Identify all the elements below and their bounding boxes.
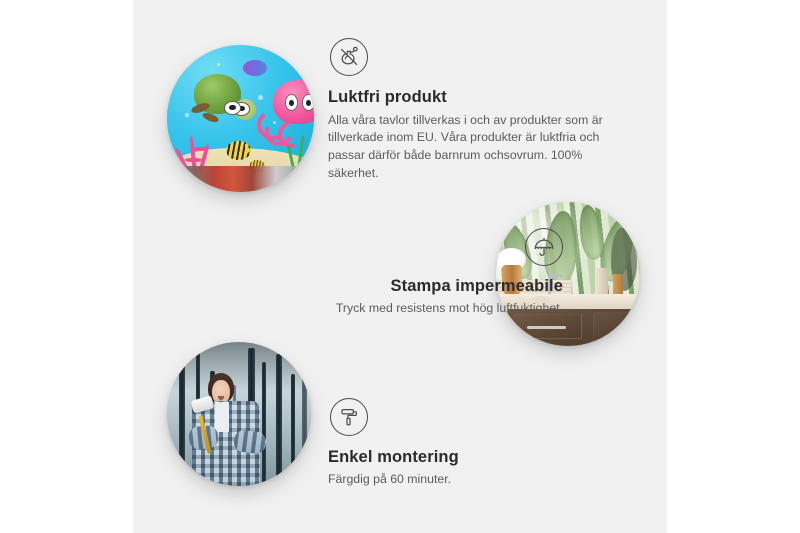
room-strip	[167, 166, 314, 192]
feature-title: Stampa impermeabile	[193, 276, 563, 297]
letterbox-right	[667, 0, 800, 533]
bubble-icon	[217, 63, 220, 66]
paint-roller-icon	[330, 398, 368, 436]
octopus-icon	[261, 80, 314, 151]
tree-icon	[179, 359, 185, 486]
tree-icon	[302, 365, 307, 486]
letterbox-left	[0, 0, 133, 533]
feature-image-underwater-cartoon-mural	[167, 45, 314, 192]
tree-icon	[276, 354, 282, 486]
bubble-icon	[185, 113, 189, 117]
infographic-canvas: Luktfri produkt Alla våra tavlor tillver…	[133, 0, 667, 533]
sea-turtle-icon	[191, 74, 256, 127]
feature-title: Luktfri produkt	[328, 87, 633, 108]
woman-figure	[187, 371, 268, 486]
feature-waterproof-print: Stampa impermeabile Tryck med resistens …	[193, 228, 563, 317]
bottle-icon	[595, 268, 608, 297]
no-fragrance-spray-icon	[330, 38, 368, 76]
feature-description: Alla våra tavlor tillverkas i och av pro…	[328, 112, 626, 183]
tree-icon	[291, 374, 295, 486]
umbrella-icon	[525, 228, 563, 266]
feature-odour-free: Luktfri produkt Alla våra tavlor tillver…	[328, 38, 633, 183]
yellow-fish-icon	[226, 141, 251, 160]
feature-description: Tryck med resistens mot hög luftfuktighe…	[193, 300, 563, 318]
feature-description: Färgdig på 60 minuter.	[328, 471, 608, 489]
feature-easy-mounting: Enkel montering Färgdig på 60 minuter.	[328, 398, 608, 488]
feature-image-woman-with-paint-roller-forest	[167, 342, 311, 486]
feature-title: Enkel montering	[328, 447, 608, 468]
infographic-stage: Luktfri produkt Alla våra tavlor tillver…	[0, 0, 800, 533]
